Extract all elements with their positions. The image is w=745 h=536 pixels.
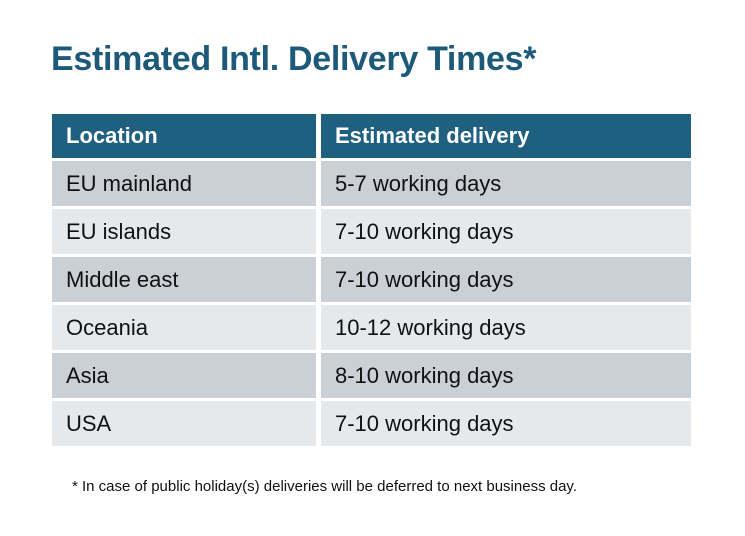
column-header-location: Location: [52, 114, 316, 158]
cell-location: EU mainland: [52, 161, 316, 206]
cell-delivery: 5-7 working days: [321, 161, 691, 206]
delivery-times-page: Estimated Intl. Delivery Times* Location…: [0, 0, 745, 536]
footnote-text: * In case of public holiday(s) deliverie…: [72, 478, 577, 495]
cell-location: USA: [52, 401, 316, 446]
table-row: Oceania 10-12 working days: [52, 305, 691, 350]
table-row: EU islands 7-10 working days: [52, 209, 691, 254]
column-header-estimated-delivery: Estimated delivery: [321, 114, 691, 158]
cell-location: Asia: [52, 353, 316, 398]
table-row: USA 7-10 working days: [52, 401, 691, 446]
cell-delivery: 7-10 working days: [321, 209, 691, 254]
table-row: Asia 8-10 working days: [52, 353, 691, 398]
cell-delivery: 7-10 working days: [321, 401, 691, 446]
delivery-times-table: Location Estimated delivery EU mainland …: [52, 114, 691, 449]
table-row: EU mainland 5-7 working days: [52, 161, 691, 206]
table-row: Middle east 7-10 working days: [52, 257, 691, 302]
table-header-row: Location Estimated delivery: [52, 114, 691, 158]
cell-delivery: 10-12 working days: [321, 305, 691, 350]
cell-delivery: 8-10 working days: [321, 353, 691, 398]
page-title: Estimated Intl. Delivery Times*: [51, 37, 536, 81]
cell-location: Oceania: [52, 305, 316, 350]
cell-location: Middle east: [52, 257, 316, 302]
cell-delivery: 7-10 working days: [321, 257, 691, 302]
cell-location: EU islands: [52, 209, 316, 254]
